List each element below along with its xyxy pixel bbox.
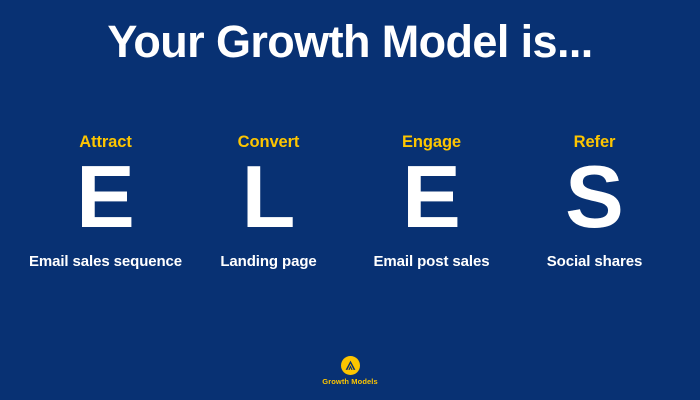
growth-model-column-attract: Attract E Email sales sequence <box>24 132 187 272</box>
growth-model-column-engage: Engage E Email post sales <box>350 132 513 272</box>
column-letter: E <box>24 154 187 240</box>
growth-model-columns: Attract E Email sales sequence Convert L… <box>24 132 676 272</box>
column-letter: L <box>187 154 350 240</box>
logo-wordmark: Growth Models <box>322 377 377 386</box>
growth-models-mountain-icon <box>341 356 360 375</box>
column-description: Social shares <box>513 252 676 272</box>
column-description: Landing page <box>187 252 350 272</box>
growth-model-slide: Your Growth Model is... Attract E Email … <box>0 0 700 400</box>
column-description: Email post sales <box>350 252 513 272</box>
growth-model-column-convert: Convert L Landing page <box>187 132 350 272</box>
column-description: Email sales sequence <box>24 252 187 272</box>
page-title: Your Growth Model is... <box>0 14 700 70</box>
column-letter: S <box>513 154 676 240</box>
column-letter: E <box>350 154 513 240</box>
growth-model-column-refer: Refer S Social shares <box>513 132 676 272</box>
footer-logo: Growth Models <box>0 356 700 386</box>
